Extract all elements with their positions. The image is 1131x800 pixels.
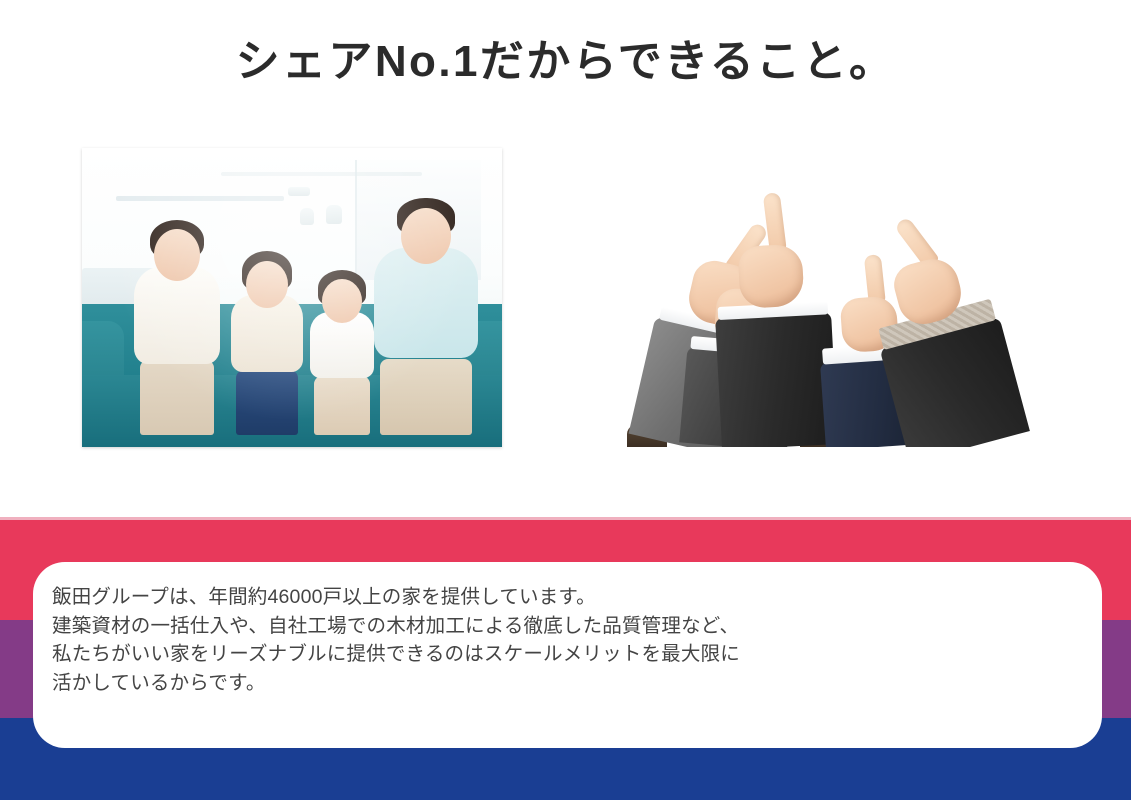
person-father [368, 196, 486, 435]
family-on-sofa-photo [82, 148, 502, 447]
legs [314, 376, 370, 435]
page-root: シェアNo.1だからできること。 [0, 0, 1131, 800]
head [322, 279, 362, 323]
legs [236, 370, 298, 435]
head [154, 229, 200, 281]
pointing-hands-photo [610, 192, 1041, 447]
head [246, 261, 288, 308]
description-text: 飯田グループは、年間約46000戸以上の家を提供しています。 建築資材の一括仕入… [52, 583, 740, 697]
head [401, 208, 451, 264]
legs [140, 360, 214, 435]
person-mother [124, 214, 229, 435]
torso [374, 248, 478, 358]
cup-icon [300, 208, 314, 225]
shelf-object [288, 187, 310, 196]
index-finger [762, 192, 786, 252]
legs [380, 359, 472, 436]
person-daughter [221, 244, 313, 435]
fist [738, 244, 805, 309]
description-card: 飯田グループは、年間約46000戸以上の家を提供しています。 建築資材の一括仕入… [33, 562, 1102, 748]
photo-row [0, 0, 1131, 505]
shelf-line-upper [221, 172, 423, 176]
cup-icon [326, 205, 342, 224]
shelf-line [116, 196, 284, 201]
torso [134, 267, 220, 364]
